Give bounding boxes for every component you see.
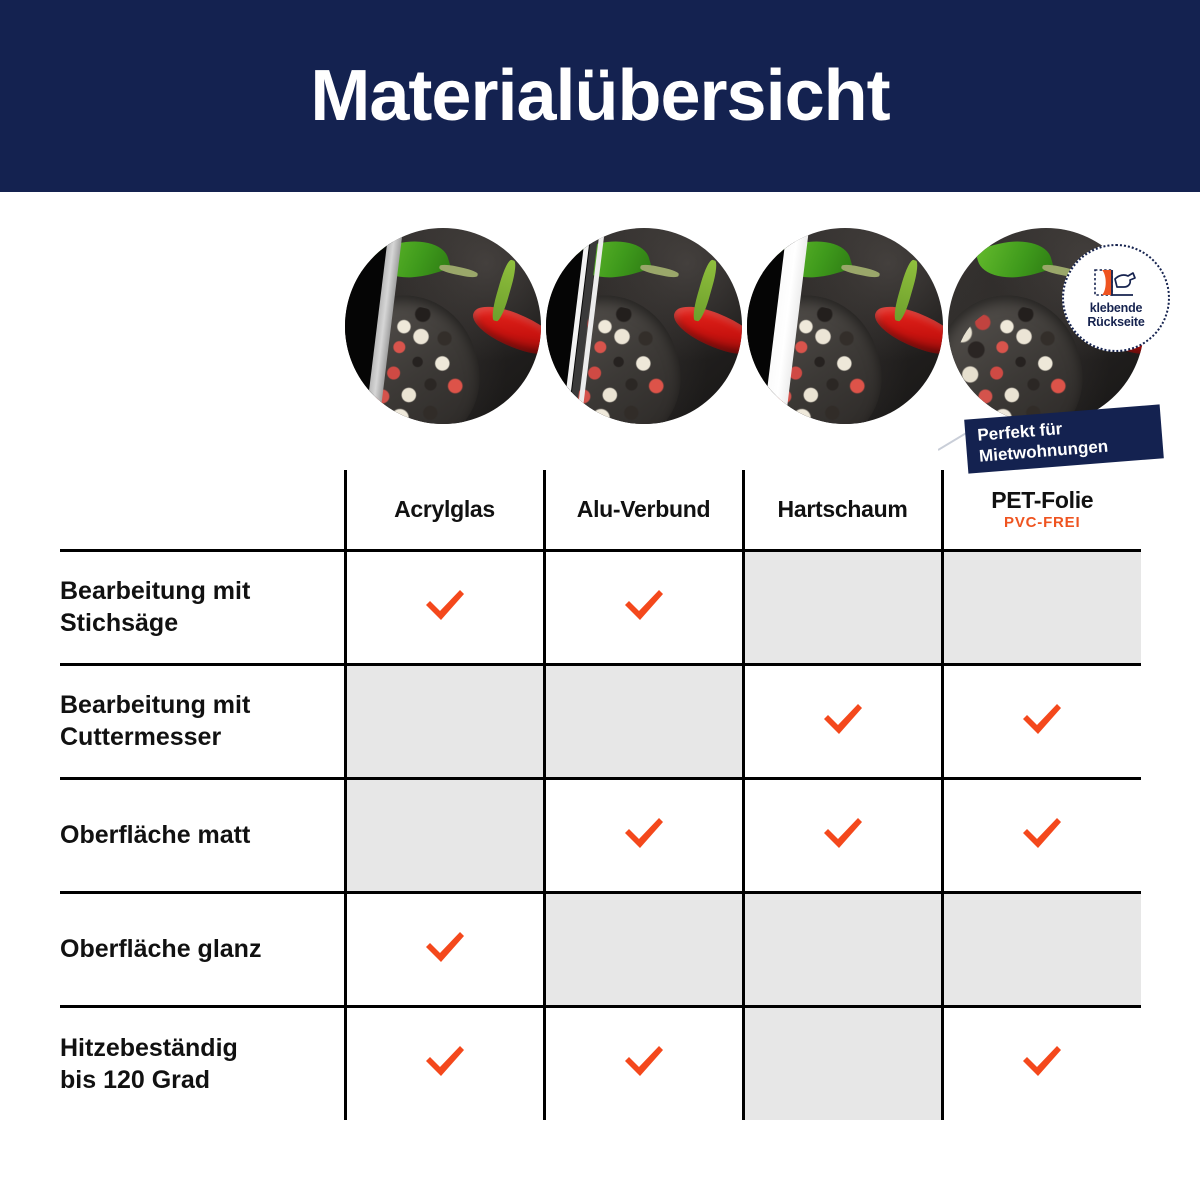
row-label: Oberfläche matt bbox=[60, 778, 345, 892]
table-row: Bearbeitung mitCuttermesser bbox=[60, 664, 1141, 778]
check-icon bbox=[621, 814, 667, 852]
check-icon bbox=[1019, 1042, 1065, 1080]
check-icon bbox=[621, 586, 667, 624]
cell-acrylglas bbox=[345, 1006, 544, 1120]
cell-acrylglas bbox=[345, 892, 544, 1006]
material-edge-alu-verbund bbox=[546, 228, 742, 424]
cell-acrylglas bbox=[345, 550, 544, 664]
row-label-line-2: Cuttermesser bbox=[60, 721, 344, 753]
cell-pet-folie bbox=[942, 892, 1141, 1006]
cell-pet-folie bbox=[942, 778, 1141, 892]
table-body: Bearbeitung mitStichsägeBearbeitung mitC… bbox=[60, 550, 1141, 1120]
row-label-line-1: Hitzebeständig bbox=[60, 1032, 344, 1064]
column-header-label: PET-Folie bbox=[944, 487, 1142, 513]
table-row: Bearbeitung mitStichsäge bbox=[60, 550, 1141, 664]
row-label: Oberfläche glanz bbox=[60, 892, 345, 1006]
row-label: Bearbeitung mitCuttermesser bbox=[60, 664, 345, 778]
check-icon bbox=[422, 928, 468, 966]
cell-hartschaum bbox=[743, 664, 942, 778]
cell-hartschaum bbox=[743, 1006, 942, 1120]
row-label-line-2: bis 120 Grad bbox=[60, 1064, 344, 1096]
column-header-pet-folie: PET-Folie PVC-FREI bbox=[942, 470, 1141, 550]
material-overview-infographic: Materialübersicht bbox=[0, 0, 1200, 1200]
column-header-sublabel-pvc-frei: PVC-FREI bbox=[944, 514, 1142, 532]
column-header-hartschaum: Hartschaum bbox=[743, 470, 942, 550]
table-row: Oberfläche glanz bbox=[60, 892, 1141, 1006]
row-label-line-1: Oberfläche glanz bbox=[60, 933, 344, 965]
cell-alu-verbund bbox=[544, 664, 743, 778]
row-label: Hitzebeständigbis 120 Grad bbox=[60, 1006, 345, 1120]
product-circle-acrylglas bbox=[345, 228, 541, 424]
header-banner: Materialübersicht bbox=[0, 0, 1200, 192]
klebende-rueckseite-badge: klebende Rückseite bbox=[1062, 244, 1170, 352]
column-header-label: Hartschaum bbox=[745, 496, 941, 522]
cell-pet-folie bbox=[942, 664, 1141, 778]
cell-acrylglas bbox=[345, 778, 544, 892]
basil-leaf bbox=[975, 231, 1054, 288]
cell-hartschaum bbox=[743, 892, 942, 1006]
cell-alu-verbund bbox=[544, 892, 743, 1006]
cell-alu-verbund bbox=[544, 550, 743, 664]
cell-alu-verbund bbox=[544, 778, 743, 892]
badge-line-2: Rückseite bbox=[1087, 315, 1144, 329]
header-corner-cell bbox=[60, 470, 345, 550]
cell-hartschaum bbox=[743, 550, 942, 664]
check-icon bbox=[1019, 700, 1065, 738]
column-header-label: Alu-Verbund bbox=[546, 496, 742, 522]
cell-hartschaum bbox=[743, 778, 942, 892]
table-header-row: Acrylglas Alu-Verbund Hartschaum PET-Fol… bbox=[60, 470, 1141, 550]
check-icon bbox=[422, 586, 468, 624]
row-label-line-1: Bearbeitung mit bbox=[60, 689, 344, 721]
page-title: Materialübersicht bbox=[310, 60, 889, 132]
cell-acrylglas bbox=[345, 664, 544, 778]
table-row: Oberfläche matt bbox=[60, 778, 1141, 892]
material-edge-acrylglas bbox=[345, 228, 541, 424]
check-icon bbox=[422, 1042, 468, 1080]
check-icon bbox=[1019, 814, 1065, 852]
table-row: Hitzebeständigbis 120 Grad bbox=[60, 1006, 1141, 1120]
product-circle-hartschaum bbox=[747, 228, 943, 424]
check-icon bbox=[820, 814, 866, 852]
row-label-line-1: Oberfläche matt bbox=[60, 819, 344, 851]
peel-adhesive-backing-icon bbox=[1093, 267, 1139, 299]
table-header: Acrylglas Alu-Verbund Hartschaum PET-Fol… bbox=[60, 470, 1141, 550]
column-header-acrylglas: Acrylglas bbox=[345, 470, 544, 550]
cell-pet-folie bbox=[942, 550, 1141, 664]
product-image-row bbox=[345, 228, 1145, 430]
material-edge-hartschaum bbox=[747, 228, 943, 424]
badge-line-1: klebende bbox=[1090, 301, 1143, 315]
product-circle-alu-verbund bbox=[546, 228, 742, 424]
row-label-line-2: Stichsäge bbox=[60, 607, 344, 639]
cell-pet-folie bbox=[942, 1006, 1141, 1120]
row-label-line-1: Bearbeitung mit bbox=[60, 575, 344, 607]
check-icon bbox=[621, 1042, 667, 1080]
check-icon bbox=[820, 700, 866, 738]
column-header-label: Acrylglas bbox=[347, 496, 543, 522]
row-label: Bearbeitung mitStichsäge bbox=[60, 550, 345, 664]
column-header-alu-verbund: Alu-Verbund bbox=[544, 470, 743, 550]
material-comparison-table: Acrylglas Alu-Verbund Hartschaum PET-Fol… bbox=[60, 470, 1141, 1120]
cell-alu-verbund bbox=[544, 1006, 743, 1120]
